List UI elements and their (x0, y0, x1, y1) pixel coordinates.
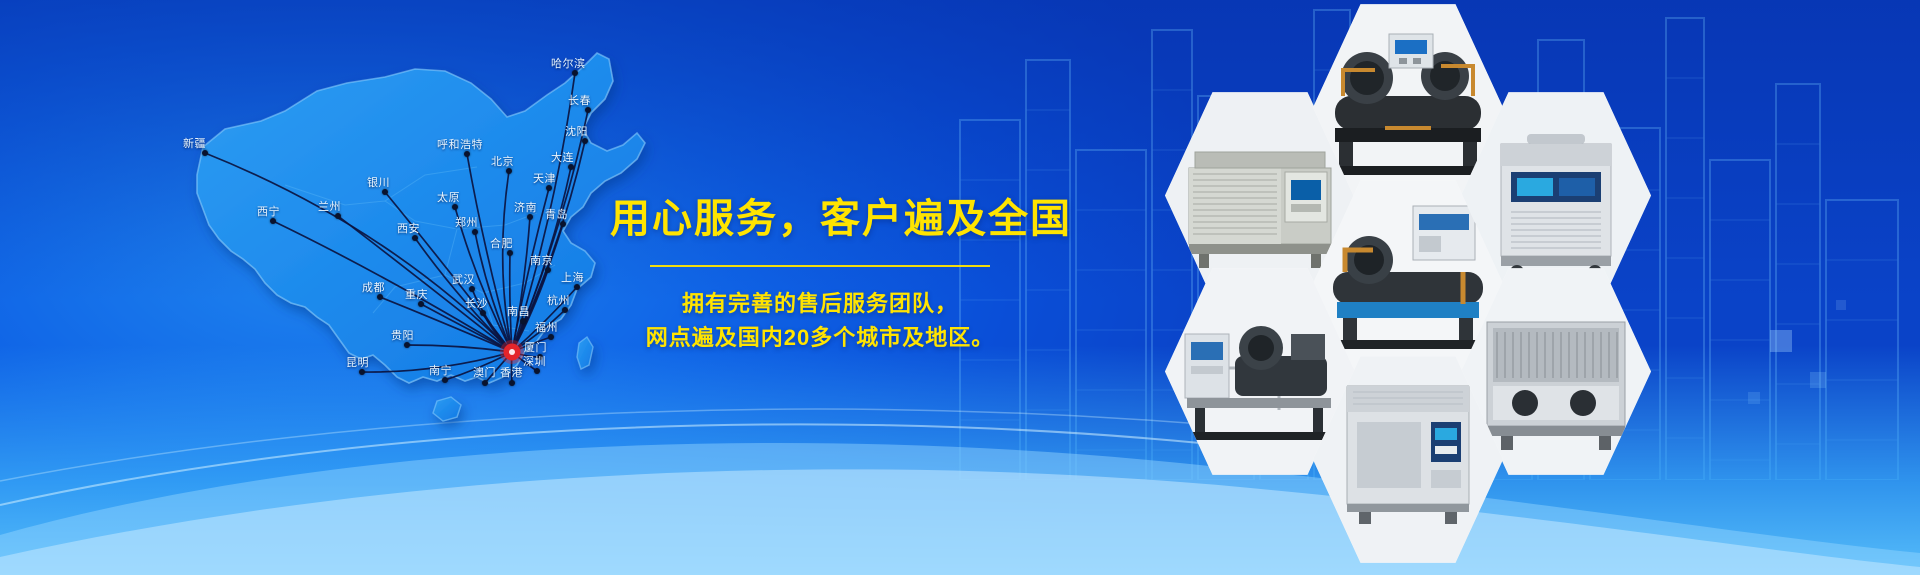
city-label: 北京 (491, 156, 514, 168)
city-dot[interactable] (560, 221, 566, 227)
city-label: 贵阳 (391, 330, 414, 342)
city-label: 呼和浩特 (437, 139, 483, 151)
city-label: 哈尔滨 (551, 58, 586, 70)
page-title: 用心服务，客户遍及全国 (610, 195, 1030, 243)
city-label: 福州 (535, 322, 558, 334)
city-dot[interactable] (472, 229, 478, 235)
city-label: 香港 (500, 367, 523, 379)
city-dot[interactable] (418, 301, 424, 307)
city-dot[interactable] (480, 310, 486, 316)
city-label: 太原 (437, 192, 460, 204)
city-label: 杭州 (547, 295, 570, 307)
city-label: 上海 (561, 272, 584, 284)
city-label: 武汉 (452, 274, 475, 286)
city-label: 新疆 (183, 138, 206, 150)
city-dot[interactable] (359, 369, 365, 375)
divider-rule (650, 265, 990, 267)
copy-block: 用心服务，客户遍及全国 拥有完善的售后服务团队， 网点遍及国内20多个城市及地区… (610, 195, 1030, 355)
city-dot[interactable] (482, 380, 488, 386)
city-dot[interactable] (548, 334, 554, 340)
city-label: 长春 (568, 95, 591, 107)
city-dot[interactable] (464, 151, 470, 157)
city-dot[interactable] (382, 189, 388, 195)
city-dot[interactable] (546, 185, 552, 191)
city-dot[interactable] (509, 380, 515, 386)
hub-marker-guangzhou-icon[interactable] (499, 339, 525, 365)
city-dot[interactable] (469, 286, 475, 292)
city-label: 成都 (362, 282, 385, 294)
city-label: 西宁 (257, 206, 280, 218)
city-label: 沈阳 (565, 126, 588, 138)
city-dot[interactable] (520, 318, 526, 324)
city-dot[interactable] (574, 284, 580, 290)
service-network-banner: 新疆西宁兰州银川呼和浩特北京太原天津哈尔滨长春沈阳大连西安郑州济南青岛合肥南京上… (0, 0, 1920, 575)
city-dot[interactable] (572, 70, 578, 76)
city-label: 合肥 (490, 238, 513, 250)
city-label: 银川 (367, 177, 390, 189)
city-dot[interactable] (377, 294, 383, 300)
city-label: 重庆 (405, 289, 428, 301)
city-label: 济南 (514, 202, 537, 214)
city-dot[interactable] (507, 250, 513, 256)
city-dot[interactable] (442, 377, 448, 383)
city-dot[interactable] (412, 235, 418, 241)
subtitle-line-2: 网点遍及国内20多个城市及地区。 (610, 321, 1030, 355)
city-dot[interactable] (404, 342, 410, 348)
city-label: 长沙 (465, 298, 488, 310)
city-label: 天津 (533, 173, 556, 185)
city-label: 西安 (397, 223, 420, 235)
city-dot[interactable] (582, 138, 588, 144)
city-label: 南宁 (429, 365, 452, 377)
city-dot[interactable] (270, 218, 276, 224)
city-dot[interactable] (562, 307, 568, 313)
city-label: 澳门 (473, 367, 496, 379)
city-label: 南昌 (507, 306, 530, 318)
subtitle-line-1: 拥有完善的售后服务团队， (610, 287, 1030, 321)
city-label: 兰州 (318, 201, 341, 213)
city-dot[interactable] (506, 168, 512, 174)
city-dot[interactable] (534, 368, 540, 374)
city-label: 大连 (551, 152, 574, 164)
city-dot[interactable] (585, 107, 591, 113)
city-dot[interactable] (527, 214, 533, 220)
city-dot[interactable] (452, 204, 458, 210)
city-label: 深圳 (523, 356, 546, 368)
product-photo-cluster (1165, 0, 1865, 540)
city-dot[interactable] (545, 267, 551, 273)
city-label: 厦门 (524, 342, 547, 354)
city-label: 青岛 (545, 209, 568, 221)
city-dot[interactable] (202, 150, 208, 156)
city-label: 郑州 (455, 217, 478, 229)
city-label: 南京 (530, 255, 553, 267)
city-dot[interactable] (568, 164, 574, 170)
city-dot[interactable] (335, 213, 341, 219)
city-label: 昆明 (346, 357, 369, 369)
